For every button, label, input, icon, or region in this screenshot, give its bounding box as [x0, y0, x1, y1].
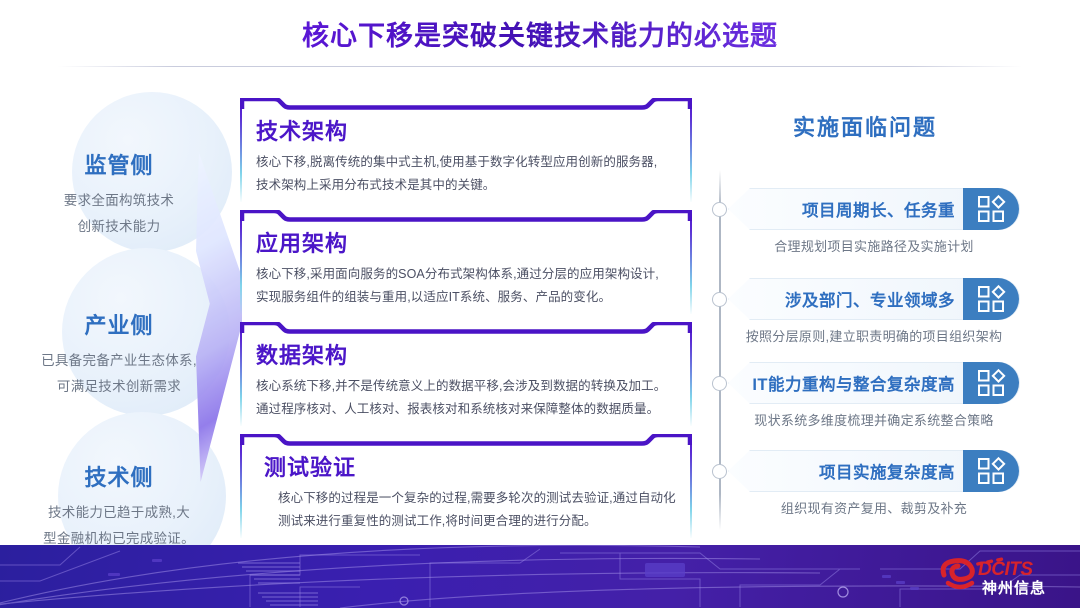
card-top-notch: [240, 434, 692, 447]
architecture-cards: 技术架构 核心下移,脱离传统的集中式主机,使用基于数字化转型应用创新的服务器, …: [240, 98, 692, 542]
page-title: 核心下移是突破关键技术能力的必选题: [302, 14, 778, 53]
card-text: 核心系统下移,并不是传统意义上的数据平移,会涉及到数据的转换及加工。 通过程序核…: [256, 375, 682, 420]
card-title: 数据架构: [256, 338, 682, 370]
card-text-line: 技术架构上采用分布式技术是其中的关键。: [256, 174, 682, 197]
card-test-verification: 测试验证 核心下移的过程是一个复杂的过程,需要多轮次的测试去验证,通过自动化 测…: [240, 434, 692, 538]
card-top-notch: [240, 322, 692, 335]
logo-swoosh-icon: [943, 561, 972, 587]
issue-pill[interactable]: 项目周期长、任务重: [728, 188, 1020, 230]
issue-pill[interactable]: 项目实施复杂度高: [728, 450, 1020, 492]
title-divider: [58, 66, 1022, 67]
card-data-architecture: 数据架构 核心系统下移,并不是传统意义上的数据平移,会涉及到数据的转换及加工。 …: [240, 322, 692, 426]
issue-pill[interactable]: 涉及部门、专业领域多: [728, 278, 1020, 320]
timeline-dot-icon: [712, 464, 727, 479]
grid-diamond-icon: [963, 450, 1019, 492]
card-text-line: 测试来进行重复性的测试工作,将时间更合理的进行分配。: [278, 510, 682, 533]
issue-subtitle: 组织现有资产复用、裁剪及补充: [728, 498, 1020, 517]
circuit-decoration: [0, 545, 1080, 608]
issue-label: 项目周期长、任务重: [729, 197, 963, 221]
driver-heading: 产业侧: [4, 308, 234, 340]
grid-diamond-icon: [963, 188, 1019, 230]
issue-label: IT能力重构与整合复杂度高: [729, 371, 963, 395]
driver-body-line: 技术能力已趋于成熟,大: [4, 500, 234, 526]
timeline-dot-icon: [712, 376, 727, 391]
card-text-line: 实现服务组件的组装与重用,以适应IT系统、服务、产品的变化。: [256, 286, 682, 309]
card-content: 数据架构 核心系统下移,并不是传统意义上的数据平移,会涉及到数据的转换及加工。 …: [256, 338, 682, 420]
card-text-line: 核心下移的过程是一个复杂的过程,需要多轮次的测试去验证,通过自动化: [278, 487, 682, 510]
driver-heading: 技术侧: [4, 460, 234, 492]
issue-label: 项目实施复杂度高: [729, 459, 963, 483]
card-technical-architecture: 技术架构 核心下移,脱离传统的集中式主机,使用基于数字化转型应用创新的服务器, …: [240, 98, 692, 202]
grid-diamond-icon: [963, 278, 1019, 320]
card-title: 应用架构: [256, 226, 682, 258]
card-text-line: 核心下移,脱离传统的集中式主机,使用基于数字化转型应用创新的服务器,: [256, 151, 682, 174]
timeline-dot-icon: [712, 202, 727, 217]
issue-subtitle: 现状系统多维度梳理并确定系统整合策略: [728, 410, 1020, 429]
card-text: 核心下移,脱离传统的集中式主机,使用基于数字化转型应用创新的服务器, 技术架构上…: [256, 151, 682, 196]
card-content: 测试验证 核心下移的过程是一个复杂的过程,需要多轮次的测试去验证,通过自动化 测…: [264, 450, 682, 532]
panel-heading: 实施面临问题: [700, 110, 1030, 142]
grid-diamond-icon: [963, 362, 1019, 404]
issue-subtitle: 合理规划项目实施路径及实施计划: [728, 236, 1020, 255]
card-content: 技术架构 核心下移,脱离传统的集中式主机,使用基于数字化转型应用创新的服务器, …: [256, 114, 682, 196]
card-content: 应用架构 核心下移,采用面向服务的SOA分布式架构体系,通过分层的应用架构设计,…: [256, 226, 682, 308]
footer-band: DCITS 神州信息: [0, 545, 1080, 608]
driver-item-technology: 技术侧 技术能力已趋于成熟,大 型金融机构已完成验证。: [4, 460, 234, 553]
card-title: 技术架构: [256, 114, 682, 146]
card-top-notch: [240, 210, 692, 223]
card-top-notch: [240, 98, 692, 111]
logo-subtext: 神州信息: [982, 579, 1046, 597]
logo-wordmark: DCITS: [978, 559, 1033, 580]
issue-pill[interactable]: IT能力重构与整合复杂度高: [728, 362, 1020, 404]
issue-subtitle: 按照分层原则,建立职责明确的项目组织架构: [728, 326, 1020, 345]
card-text-line: 通过程序核对、人工核对、报表核对和系统核对来保障整体的数据质量。: [256, 398, 682, 421]
slide-title-bar: 核心下移是突破关键技术能力的必选题: [0, 0, 1080, 66]
slide-root: 核心下移是突破关键技术能力的必选题 监管侧 要求全面构筑技术 创新技术能力 产业…: [0, 0, 1080, 608]
card-text: 核心下移,采用面向服务的SOA分布式架构体系,通过分层的应用架构设计, 实现服务…: [256, 263, 682, 308]
implementation-issues-panel: 实施面临问题 项目周期长、任务重 合理规划项目实施路径及实施计划: [700, 110, 1080, 540]
card-application-architecture: 应用架构 核心下移,采用面向服务的SOA分布式架构体系,通过分层的应用架构设计,…: [240, 210, 692, 314]
card-text-line: 核心系统下移,并不是传统意义上的数据平移,会涉及到数据的转换及加工。: [256, 375, 682, 398]
timeline-dot-icon: [712, 292, 727, 307]
card-text: 核心下移的过程是一个复杂的过程,需要多轮次的测试去验证,通过自动化 测试来进行重…: [278, 487, 682, 532]
dcits-logo: DCITS 神州信息: [938, 553, 1066, 599]
issue-label: 涉及部门、专业领域多: [729, 287, 963, 311]
card-title: 测试验证: [264, 450, 682, 482]
card-text-line: 核心下移,采用面向服务的SOA分布式架构体系,通过分层的应用架构设计,: [256, 263, 682, 286]
